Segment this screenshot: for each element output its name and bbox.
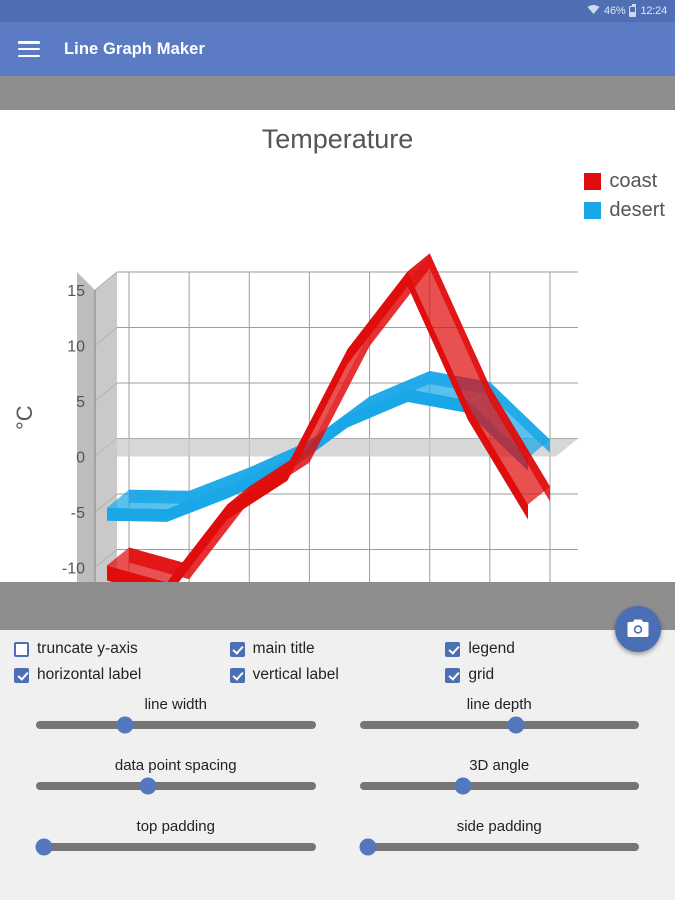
bottom-divider-band: [0, 582, 675, 630]
checkbox-label: grid: [468, 666, 494, 684]
camera-fab-button[interactable]: [615, 606, 661, 652]
slider-thumb[interactable]: [359, 839, 376, 856]
slider-label: line depth: [350, 696, 650, 713]
svg-text:10: 10: [67, 339, 85, 356]
slider-track[interactable]: [36, 782, 316, 790]
checkbox-label: legend: [468, 640, 515, 658]
checkbox-horizontal-label[interactable]: horizontal label: [14, 666, 230, 684]
legend-label: coast: [609, 170, 657, 193]
slider-side-padding: side padding: [338, 818, 662, 869]
checkbox-label: horizontal label: [37, 666, 141, 684]
svg-text:-10: -10: [62, 561, 85, 578]
slider-thumb[interactable]: [139, 778, 156, 795]
legend-label: desert: [609, 199, 665, 222]
camera-icon: [626, 618, 650, 640]
checkbox-main-title[interactable]: main title: [230, 640, 446, 658]
slider-line-depth: line depth: [338, 696, 662, 747]
checkbox-box[interactable]: [230, 668, 245, 683]
legend-item-desert: desert: [584, 199, 665, 222]
clock-label: 12:24: [640, 5, 667, 17]
svg-text:15: 15: [67, 283, 85, 300]
slider-label: 3D angle: [350, 757, 650, 774]
checkbox-label: main title: [253, 640, 315, 658]
app-title: Line Graph Maker: [64, 40, 205, 59]
app-screen: 46% 12:24 Line Graph Maker Temperature °…: [0, 0, 675, 900]
checkbox-box[interactable]: [230, 642, 245, 657]
slider-track[interactable]: [360, 843, 640, 851]
checkbox-label: truncate y-axis: [37, 640, 138, 658]
slider-label: data point spacing: [26, 757, 326, 774]
legend-item-coast: coast: [584, 170, 665, 193]
status-bar: 46% 12:24: [0, 0, 675, 22]
chart-card: Temperature °C hour 151050-5-10-1500.000…: [0, 110, 675, 582]
wifi-icon: [587, 4, 600, 18]
slider-data-point-spacing: data point spacing: [14, 757, 338, 808]
checkbox-box[interactable]: [14, 642, 29, 657]
checkbox-box[interactable]: [14, 668, 29, 683]
chart-plot[interactable]: 151050-5-10-1500.0003.0006.0009.0012.001…: [0, 110, 675, 582]
svg-text:-5: -5: [71, 505, 85, 522]
hamburger-menu-icon[interactable]: [18, 41, 40, 57]
slider-thumb[interactable]: [117, 717, 134, 734]
slider-group: line widthline depthdata point spacing3D…: [14, 696, 661, 869]
svg-text:5: 5: [76, 394, 85, 411]
checkbox-vertical-label[interactable]: vertical label: [230, 666, 446, 684]
slider-track[interactable]: [360, 782, 640, 790]
checkbox-truncate-y-axis[interactable]: truncate y-axis: [14, 640, 230, 658]
slider-thumb[interactable]: [36, 839, 53, 856]
slider-thumb[interactable]: [508, 717, 525, 734]
svg-text:0: 0: [76, 450, 85, 467]
checkbox-box[interactable]: [445, 642, 460, 657]
slider-line-width: line width: [14, 696, 338, 747]
app-bar: Line Graph Maker: [0, 22, 675, 76]
slider-track[interactable]: [36, 721, 316, 729]
checkbox-group: truncate y-axismain titlelegendhorizonta…: [14, 640, 661, 684]
battery-percent-label: 46%: [604, 5, 625, 17]
slider-thumb[interactable]: [454, 778, 471, 795]
controls-panel: truncate y-axismain titlelegendhorizonta…: [0, 630, 675, 900]
slider-track[interactable]: [360, 721, 640, 729]
slider-label: line width: [26, 696, 326, 713]
slider-label: side padding: [350, 818, 650, 835]
slider-top-padding: top padding: [14, 818, 338, 869]
legend-swatch-coast: [584, 173, 601, 190]
battery-icon: [629, 6, 636, 17]
checkbox-grid[interactable]: grid: [445, 666, 661, 684]
slider-track[interactable]: [36, 843, 316, 851]
checkbox-box[interactable]: [445, 668, 460, 683]
legend-swatch-desert: [584, 202, 601, 219]
checkbox-label: vertical label: [253, 666, 339, 684]
top-divider-band: [0, 76, 675, 110]
slider-3D-angle: 3D angle: [338, 757, 662, 808]
slider-label: top padding: [26, 818, 326, 835]
chart-legend: coastdesert: [584, 170, 665, 222]
